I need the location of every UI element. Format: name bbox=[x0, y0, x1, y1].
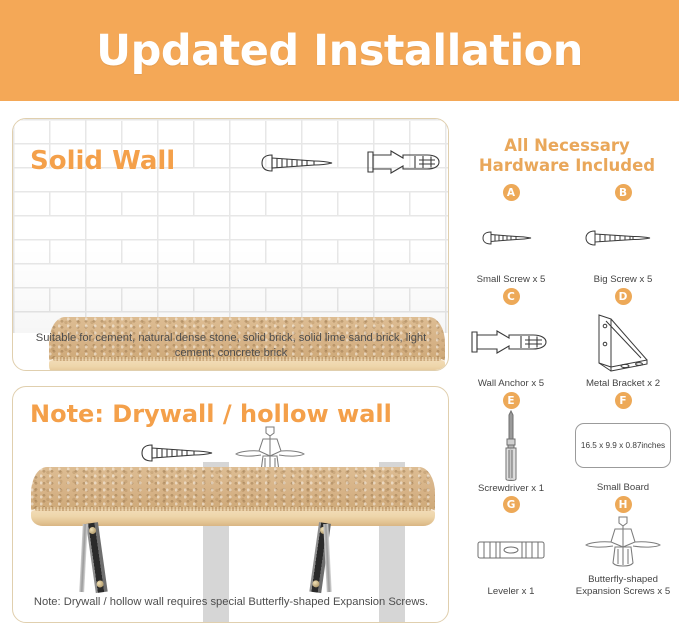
hardware-item-leveler: G Leveler x 1 bbox=[455, 496, 567, 600]
bracket-strut-left bbox=[79, 524, 88, 592]
panel-title-drywall: Note: Drywall / hollow wall bbox=[30, 400, 392, 428]
item-badge-a: A bbox=[503, 184, 520, 201]
hardware-item-wall-anchor: C Wall Anchor x 5 bbox=[455, 288, 567, 392]
hardware-item-big-screw: B Big Screw x 5 bbox=[567, 184, 679, 288]
item-label-leveler: Leveler x 1 bbox=[488, 586, 535, 600]
hardware-item-screwdriver: E bbox=[455, 392, 567, 496]
item-badge-b: B bbox=[615, 184, 632, 201]
panel-caption-solid-wall: Suitable for cement, natural dense stone… bbox=[26, 331, 436, 361]
item-badge-c: C bbox=[503, 288, 520, 305]
screwdriver-icon bbox=[455, 409, 567, 483]
installation-infographic: Updated Installation bbox=[0, 0, 679, 634]
page-title: Updated Installation bbox=[96, 26, 583, 76]
hardware-item-butterfly-expansion-screws: H Butterfly-shaped Ex bbox=[567, 496, 679, 600]
screw-icon bbox=[258, 149, 348, 177]
hardware-heading-line2: Hardware Included bbox=[455, 156, 679, 176]
hardware-heading: All Necessary Hardware Included bbox=[455, 136, 679, 176]
item-label-metal-bracket: Metal Bracket x 2 bbox=[586, 378, 660, 392]
hardware-item-metal-bracket: D bbox=[567, 288, 679, 392]
small-board-icon: 16.5 x 9.9 x 0.87inches bbox=[567, 409, 679, 482]
leveler-icon bbox=[455, 513, 567, 586]
bracket-screw-bottom bbox=[312, 580, 320, 588]
hardware-item-small-screw: A Small Screw x 5 bbox=[455, 184, 567, 288]
item-label-big-screw: Big Screw x 5 bbox=[594, 274, 653, 288]
shelf-illustration-drywall bbox=[31, 467, 435, 599]
big-screw-icon bbox=[567, 201, 679, 274]
hardware-item-small-board: F 16.5 x 9.9 x 0.87inches Small Board bbox=[567, 392, 679, 496]
header-banner: Updated Installation bbox=[0, 0, 679, 101]
item-label-butterfly-expansion-screws: Butterfly-shaped Expansion Screws x 5 bbox=[567, 574, 679, 600]
item-badge-h: H bbox=[615, 496, 632, 513]
item-badge-e: E bbox=[503, 392, 520, 409]
panel-title-solid-wall: Solid Wall bbox=[30, 146, 175, 176]
small-screw-icon bbox=[455, 201, 567, 274]
panel-caption-drywall: Note: Drywall / hollow wall requires spe… bbox=[26, 595, 436, 610]
hardware-heading-line1: All Necessary bbox=[455, 136, 679, 156]
item-badge-g: G bbox=[503, 496, 520, 513]
hardware-list-section: All Necessary Hardware Included A bbox=[455, 118, 679, 634]
board-dimensions-label: 16.5 x 9.9 x 0.87inches bbox=[575, 423, 671, 468]
item-label-small-screw: Small Screw x 5 bbox=[477, 274, 546, 288]
item-label-screwdriver: Screwdriver x 1 bbox=[478, 483, 544, 497]
item-badge-f: F bbox=[615, 392, 632, 409]
metal-bracket-icon bbox=[567, 305, 679, 378]
wall-anchor-icon bbox=[455, 305, 567, 378]
butterfly-expansion-screw-icon bbox=[567, 513, 679, 574]
bracket-screw-bottom bbox=[96, 580, 104, 588]
wall-anchor-icon bbox=[365, 147, 445, 177]
item-label-wall-anchor: Wall Anchor x 5 bbox=[478, 378, 544, 392]
item-label-small-board: Small Board bbox=[597, 482, 649, 496]
metal-bracket-left bbox=[86, 522, 108, 593]
bracket-strut-right bbox=[323, 524, 332, 592]
bracket-screw-top bbox=[89, 527, 97, 535]
hardware-grid: A Small Screw x 5 B bbox=[455, 184, 679, 600]
item-badge-d: D bbox=[615, 288, 632, 305]
